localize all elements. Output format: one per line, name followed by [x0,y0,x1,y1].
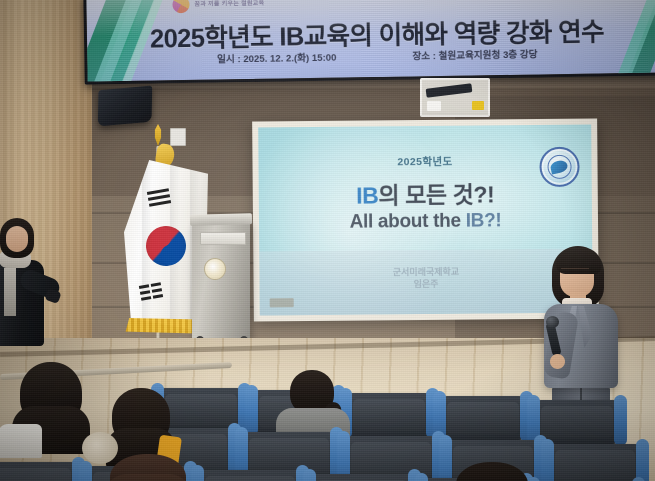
photo-scene: 꿈과 끼를 키우는 철원교육 철원교육 2025학년도 IB교육의 이해와 역량… [0,0,655,481]
slide-corner-marker [270,298,294,307]
equipment-shelf [420,78,490,117]
audience-seating [0,366,655,481]
slide-title-korean-rest: 의 모든 것?! [378,181,494,208]
presenter-glasses-icon [561,268,589,277]
shelf-item-dark [426,83,473,98]
slide-title-korean: IB의 모든 것?! [259,175,592,212]
shelf-item-white [427,101,441,111]
staff-inner-shirt [4,268,16,316]
auditorium-seat [198,470,302,481]
banner-slogan: 꿈과 끼를 키우는 철원교육 [194,0,264,8]
auditorium-seat [548,444,642,481]
microphone-head-icon [546,316,559,328]
slide-title-english-lead: All about the [349,211,465,233]
slide-title-ib-token: IB [356,182,378,208]
auditorium-seat [0,462,78,481]
banner-location: 장소 : 철원교육지원청 3층 강당 [412,46,537,62]
auditorium-seat [310,474,414,481]
school-emblem-icon [539,147,579,187]
lectern-emblem-icon [204,258,226,280]
shelf-item-yellow [472,101,484,110]
slide-title-english-ib: IB?! [466,210,502,231]
led-banner-display: 꿈과 끼를 키우는 철원교육 철원교육 2025학년도 IB교육의 이해와 역량… [83,0,655,85]
cheorwon-logo-icon [172,0,189,13]
staff-face [6,226,28,252]
audience-shoulders [0,424,42,458]
auditorium-seat [440,396,526,440]
auditorium-seat [346,393,432,437]
staff-hand-held-object [44,288,61,304]
lectern-top [190,213,252,226]
audience-fur-hood [82,432,118,464]
auditorium-seat [534,400,620,444]
banner-datetime: 일시 : 2025. 12. 2.(화) 15:00 [217,50,336,66]
standing-staff-person [0,218,60,370]
ceiling-speaker [98,86,152,127]
slide-title-english: All about the IB?! [259,210,592,235]
lectern-nameplate [200,232,246,245]
